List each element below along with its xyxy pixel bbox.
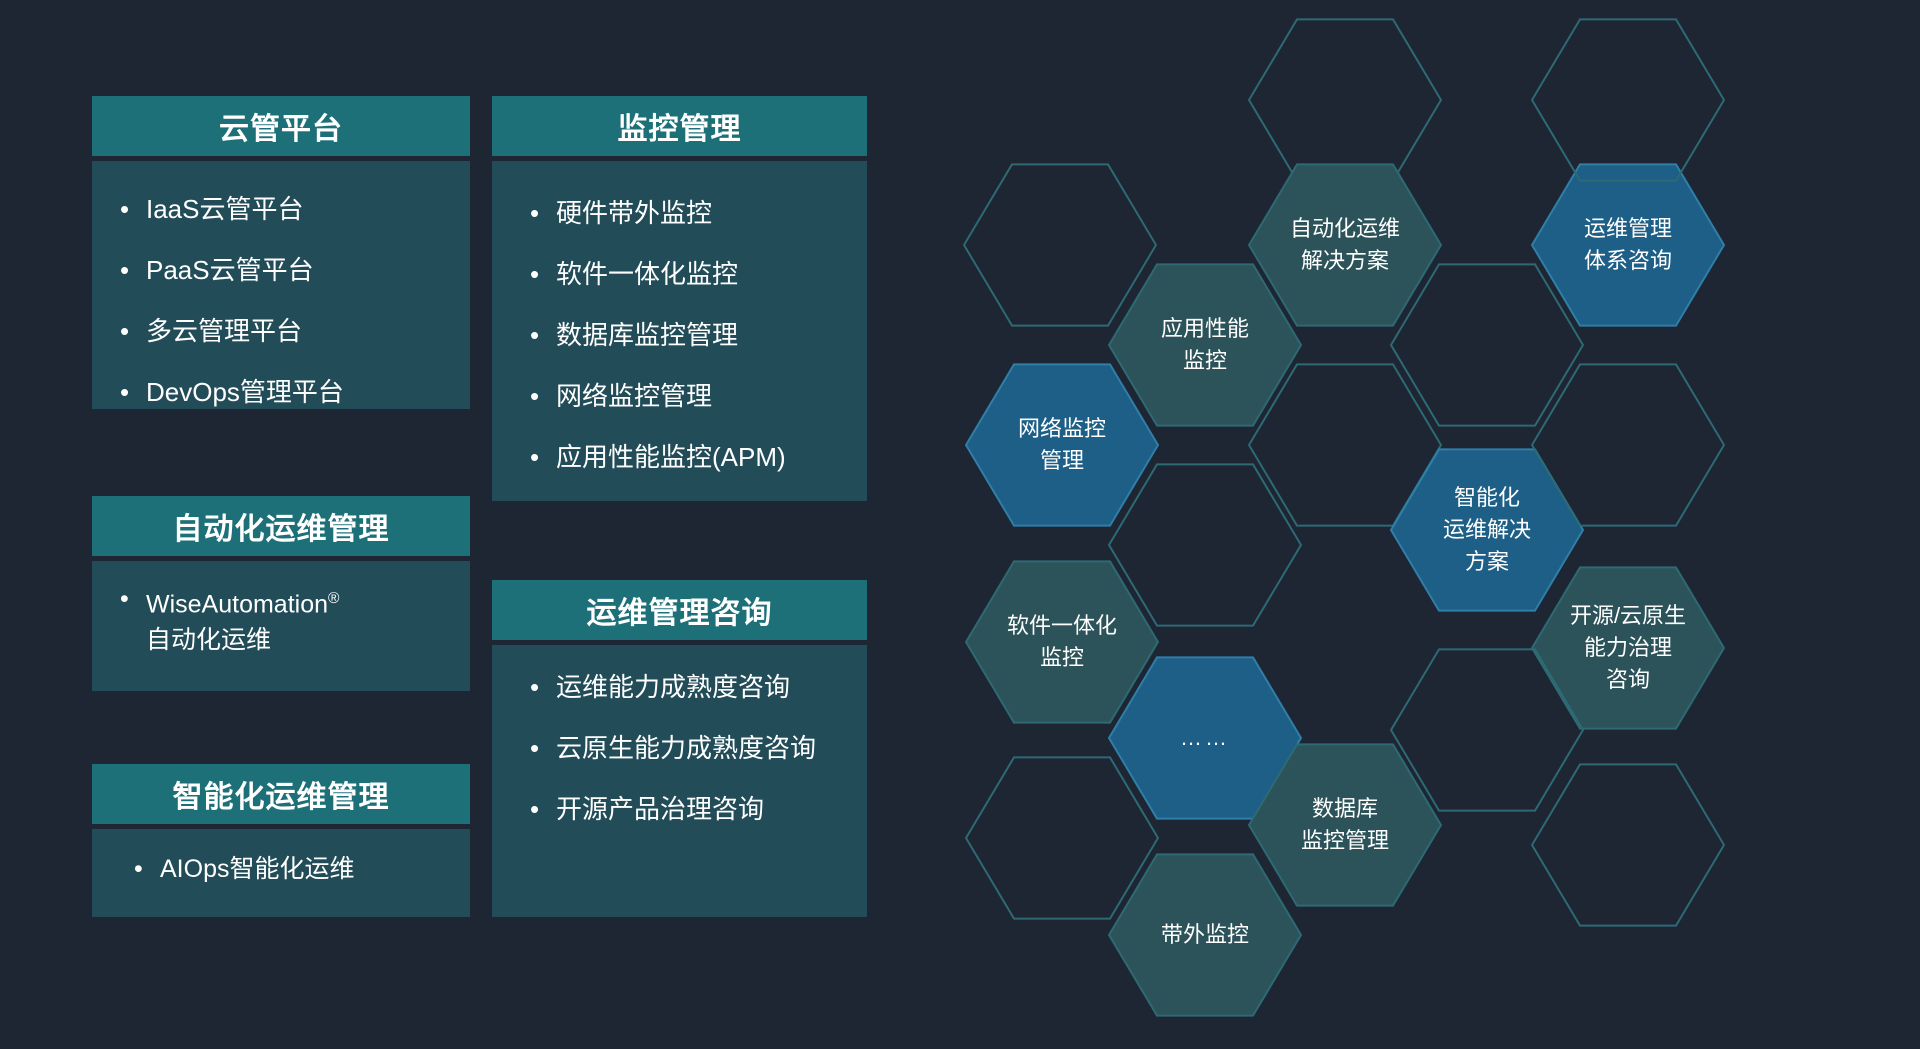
list-item: 应用性能监控(APM) <box>526 427 857 488</box>
card-intelligent-ops-list: AIOps智能化运维 <box>116 851 460 887</box>
card-ops-consulting-body: 运维能力成熟度咨询 云原生能力成熟度咨询 开源产品治理咨询 <box>492 645 867 917</box>
list-item: 网络监控管理 <box>526 366 857 427</box>
card-intelligent-ops-body: AIOps智能化运维 <box>92 829 470 917</box>
hex-empty-1[interactable] <box>964 164 1156 325</box>
card-cloud-platform-list: IaaS云管平台 PaaS云管平台 多云管理平台 DevOps管理平台 <box>116 179 460 423</box>
list-item: PaaS云管平台 <box>116 240 460 301</box>
card-automation-ops-body: WiseAutomation®自动化运维 <box>92 561 470 691</box>
product-desc: 自动化运维 <box>146 626 271 654</box>
card-monitoring-list: 硬件带外监控 软件一体化监控 数据库监控管理 网络监控管理 应用性能监控(APM… <box>526 183 857 488</box>
list-item: 运维能力成熟度咨询 <box>526 665 857 710</box>
hex-empty-6[interactable] <box>1391 264 1583 425</box>
hex-app-perf[interactable] <box>1109 264 1301 425</box>
hexagon-diagram: 应用性能 监控自动化运维 解决方案运维管理 体系咨询网络监控 管理智能化 运维解… <box>880 0 1920 1044</box>
card-intelligent-ops: 智能化运维管理 AIOps智能化运维 <box>92 764 470 917</box>
capability-cards-panel: 云管平台 IaaS云管平台 PaaS云管平台 多云管理平台 DevOps管理平台… <box>0 0 880 1044</box>
hex-empty-10[interactable] <box>1532 764 1724 925</box>
hex-empty-8[interactable] <box>966 757 1158 918</box>
card-monitoring: 监控管理 硬件带外监控 软件一体化监控 数据库监控管理 网络监控管理 应用性能监… <box>492 96 867 501</box>
card-cloud-platform: 云管平台 IaaS云管平台 PaaS云管平台 多云管理平台 DevOps管理平台 <box>92 96 470 409</box>
list-item: IaaS云管平台 <box>116 179 460 240</box>
card-monitoring-title: 监控管理 <box>492 96 867 156</box>
list-item: 软件一体化监控 <box>526 244 857 305</box>
hex-oss-consult[interactable] <box>1532 567 1724 728</box>
hexagon-svg <box>880 0 1920 1044</box>
card-cloud-platform-title: 云管平台 <box>92 96 470 156</box>
list-item: 多云管理平台 <box>116 301 460 362</box>
hex-net-monitor[interactable] <box>966 364 1158 525</box>
hex-ops-consult[interactable] <box>1532 164 1724 325</box>
hex-empty-2[interactable] <box>1249 19 1441 180</box>
list-item: DevOps管理平台 <box>116 362 460 423</box>
card-automation-ops-title: 自动化运维管理 <box>92 496 470 556</box>
card-intelligent-ops-title: 智能化运维管理 <box>92 764 470 824</box>
hex-empty-4[interactable] <box>1109 464 1301 625</box>
slide-canvas: 云管平台 IaaS云管平台 PaaS云管平台 多云管理平台 DevOps管理平台… <box>0 0 1920 1044</box>
list-item: 云原生能力成熟度咨询 <box>526 726 857 771</box>
list-item: 开源产品治理咨询 <box>526 787 857 832</box>
list-item: 数据库监控管理 <box>526 305 857 366</box>
list-item: AIOps智能化运维 <box>116 851 460 887</box>
hex-oob-monitor[interactable] <box>1109 854 1301 1015</box>
hex-sw-monitor[interactable] <box>966 561 1158 722</box>
list-item: 硬件带外监控 <box>526 183 857 244</box>
card-ops-consulting-list: 运维能力成熟度咨询 云原生能力成熟度咨询 开源产品治理咨询 <box>526 665 857 832</box>
registered-trademark-icon: ® <box>328 590 339 607</box>
card-cloud-platform-body: IaaS云管平台 PaaS云管平台 多云管理平台 DevOps管理平台 <box>92 161 470 409</box>
card-automation-ops: 自动化运维管理 WiseAutomation®自动化运维 <box>92 496 470 691</box>
product-name: WiseAutomation <box>146 590 328 618</box>
hex-aiops-solution[interactable] <box>1391 449 1583 610</box>
hex-auto-solution[interactable] <box>1249 164 1441 325</box>
list-item: WiseAutomation®自动化运维 <box>116 581 460 658</box>
card-ops-consulting-title: 运维管理咨询 <box>492 580 867 640</box>
card-automation-ops-list: WiseAutomation®自动化运维 <box>116 581 460 658</box>
card-ops-consulting: 运维管理咨询 运维能力成熟度咨询 云原生能力成熟度咨询 开源产品治理咨询 <box>492 580 867 917</box>
hex-empty-3[interactable] <box>1532 19 1724 180</box>
card-monitoring-body: 硬件带外监控 软件一体化监控 数据库监控管理 网络监控管理 应用性能监控(APM… <box>492 161 867 501</box>
